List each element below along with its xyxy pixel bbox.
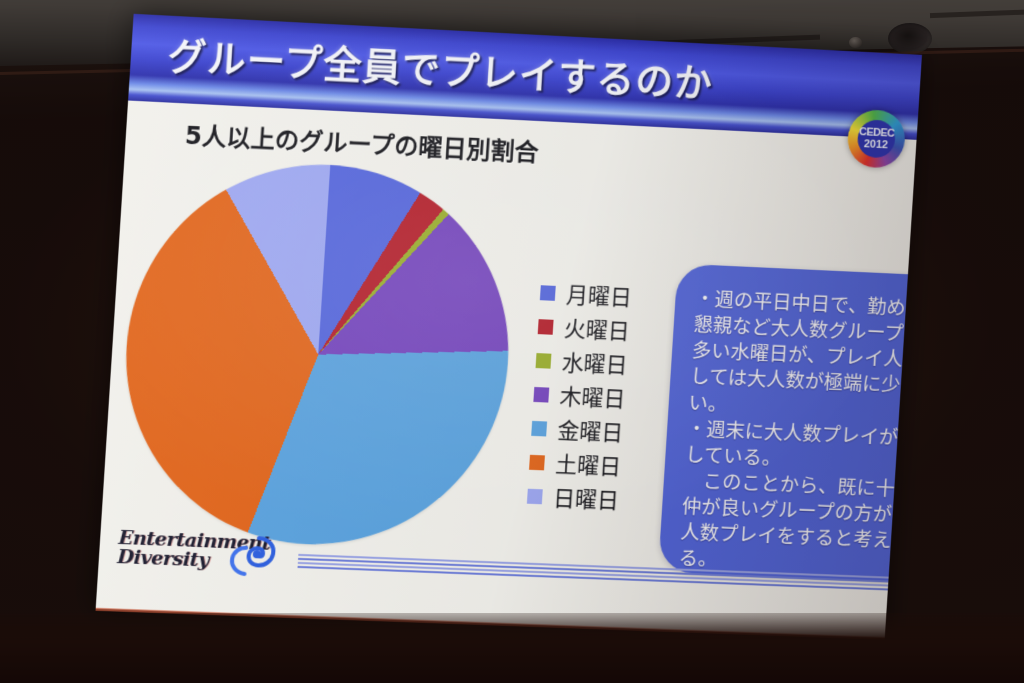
swirl-icon (226, 533, 277, 579)
legend-item-3: 水曜日 (535, 343, 629, 381)
projection-screen-wrap: グループ全員でプレイするのか CEDEC 2012 5人以上のグループの曜日別割… (0, 0, 1024, 683)
callout-box: ・週の平日中日で、勤め先の懇親など大人数グループ客が多い水曜日が、プレイ人数とし… (658, 264, 922, 583)
pie-chart (114, 156, 532, 564)
page-title: グループ全員でプレイするのか (165, 22, 831, 126)
legend-label: 土曜日 (554, 447, 622, 482)
callout-paragraph-3: このことから、既に十分に仲が良いグループの方が、大人数プレイをすると考えられる。 (678, 468, 922, 582)
legend-label: 月曜日 (565, 277, 633, 312)
screenshot-stage: グループ全員でプレイするのか CEDEC 2012 5人以上のグループの曜日別割… (0, 0, 1024, 683)
presentation-slide: グループ全員でプレイするのか CEDEC 2012 5人以上のグループの曜日別割… (96, 14, 922, 638)
legend-swatch-icon (527, 488, 543, 504)
legend-item-6: 土曜日 (528, 445, 622, 483)
legend-item-7: 日曜日 (526, 479, 620, 517)
callout-text: ・週の平日中日で、勤め先の懇親など大人数グループ客が多い水曜日が、プレイ人数とし… (678, 286, 922, 582)
legend-label: 金曜日 (557, 413, 625, 448)
legend-swatch-icon (538, 319, 554, 335)
legend-label: 木曜日 (559, 379, 627, 414)
callout-paragraph-1: ・週の平日中日で、勤め先の懇親など大人数グループ客が多い水曜日が、プレイ人数とし… (688, 286, 922, 427)
legend-label: 火曜日 (563, 311, 631, 346)
legend-swatch-icon (533, 386, 549, 402)
legend-item-1: 月曜日 (539, 275, 633, 313)
pie-chart-disc (115, 156, 520, 552)
legend-swatch-icon (529, 454, 545, 470)
chart-legend: 月曜日火曜日水曜日木曜日金曜日土曜日日曜日 (526, 275, 633, 516)
legend-swatch-icon (536, 353, 552, 369)
foreground-shadow (0, 613, 1024, 683)
legend-label: 日曜日 (552, 481, 620, 516)
entertainment-diversity-logo: Entertainment Diversity (112, 527, 298, 586)
legend-item-4: 木曜日 (533, 377, 627, 415)
legend-item-2: 火曜日 (537, 309, 631, 347)
legend-label: 水曜日 (561, 345, 629, 380)
legend-swatch-icon (540, 285, 556, 301)
legend-item-5: 金曜日 (531, 411, 625, 449)
cedec-logo-year: 2012 (864, 139, 889, 151)
legend-swatch-icon (531, 420, 547, 436)
projection-screen: グループ全員でプレイするのか CEDEC 2012 5人以上のグループの曜日別割… (96, 14, 922, 638)
